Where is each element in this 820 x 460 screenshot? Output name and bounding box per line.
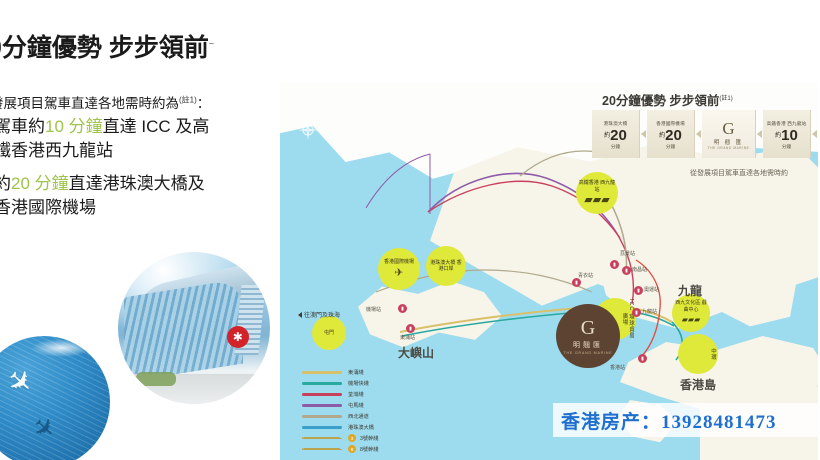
time-card-airport-num: 20 [665, 127, 682, 144]
legend-row-tuen-ma-line: 屯馬綫 [302, 400, 422, 410]
time-card-airport-value: 約20 [659, 128, 682, 144]
project-marker-cn: 明翹匯 [573, 340, 603, 350]
map-header-band: 20分鐘優勢 步步領前(註1) 港珠澳大橋 約20 分鐘 香港國際機場 約20 … [580, 86, 820, 182]
poi-airport[interactable]: 香港國際機場 ✈ [378, 248, 420, 290]
compass-rose-icon [298, 120, 318, 140]
station-label-tung-chung: 東涌站 [400, 334, 415, 341]
map-header-title: 20分鐘優勢 步步領前(註1) [602, 90, 733, 109]
bullet-2-highlight: 20 分鐘 [11, 174, 69, 193]
time-card-hzmb: 港珠澳大橋 約20 分鐘 [592, 110, 640, 158]
intro-sup: (註1) [179, 96, 197, 105]
time-card-hsr-value: 約10 [775, 128, 798, 144]
poi-hsr-station[interactable]: 高鐵香港 西九龍站 ▰▰▰ [576, 172, 618, 214]
legend-swatch-route-8 [302, 448, 342, 450]
intro-colon: ： [197, 96, 211, 111]
project-marker-mark: G [581, 318, 595, 338]
region-label-hkisland: 香港島 [680, 376, 716, 393]
legend-row-airport-express: 機場快綫 [302, 378, 422, 388]
time-card-hsr-unit: 分鐘 [782, 144, 791, 150]
legend-swatch-airport-express [302, 382, 342, 385]
legend-label-tuen-ma: 屯馬綫 [348, 402, 364, 409]
slide-root: 0分鐘優勢 步步領前~ 發展項目駕車直達各地需時約為(註1)： 駕車約10 分鐘… [0, 0, 820, 460]
map-header-title-sup: (註1) [719, 96, 732, 102]
intro-text: 發展項目駕車直達各地需時約為 [0, 96, 179, 111]
direction-note-text: 往澳門及珠海 [304, 313, 340, 319]
station-label-olympic: 奧運站 [644, 286, 659, 293]
station-label-hong-kong: 香港站 [610, 364, 625, 371]
legend-row-hzmb: 港珠澳大橋 [302, 422, 422, 432]
bullet-item-1: 駕車約10 分鐘直達 ICC 及高 鐵香港西九龍站 [0, 115, 294, 163]
legend-row-route-3: 3 3號幹綫 [302, 433, 422, 443]
poi-central-label: 中環 [680, 348, 716, 361]
legend-swatch-tung-chung [302, 371, 342, 374]
station-dot-airport[interactable]: ▮ [398, 304, 407, 313]
time-card-hzmb-unit: 分鐘 [611, 144, 620, 150]
intro-line: 發展項目駕車直達各地需時約為(註1)： [0, 92, 290, 112]
project-location-marker[interactable]: G 明翹匯 THE GRAND MARINE [556, 304, 620, 368]
legend-swatch-northwest [302, 415, 342, 418]
map-header-note: 從發展項目駕車直達各地需時約 [690, 168, 788, 178]
poi-west-kowloon-label: 西九文化區 戲曲中心 [674, 300, 708, 313]
poi-west-kowloon[interactable]: 西九文化區 戲曲中心 ▰▰▰ [672, 294, 710, 332]
station-dot-tsing-yi[interactable]: ▮ [572, 278, 581, 287]
bullet-1-post: 直達 ICC 及高 [103, 117, 210, 136]
time-card-airport: 香港國際機場 約20 分鐘 [647, 110, 695, 158]
project-logo-en: THE GRAND MARINE [708, 146, 750, 150]
terminal-glass-facade [124, 279, 243, 383]
station-dot-lai-king[interactable]: ▮ [610, 260, 619, 269]
legend-row-tsuen-wan-line: 荃灣綫 [302, 389, 422, 399]
poi-bridge-port-label: 港珠澳大橋 香港口岸 [428, 260, 464, 273]
poi-tuen-mun[interactable]: 屯門 [312, 316, 346, 350]
page-title: 0分鐘優勢 步步領前~ [0, 28, 288, 64]
bullet-1-line2: 鐵香港西九龍站 [0, 141, 113, 160]
legend-swatch-route-3 [302, 437, 342, 439]
arrow-left-icon-3 [757, 130, 762, 138]
poi-airport-label: 香港國際機場 [380, 259, 418, 265]
left-text-panel: 0分鐘優勢 步步領前~ 發展項目駕車直達各地需時約為(註1)： 駕車約10 分鐘… [0, 0, 292, 460]
station-label-lai-king: 荔景站 [620, 250, 635, 257]
station-label-nam-cheong: 南昌站 [632, 266, 647, 273]
sea-foam [31, 339, 92, 357]
time-card-hsr-num: 10 [781, 127, 798, 144]
watermark-text: 香港房产：13928481473 [553, 407, 777, 434]
theatre-icon: ▰▰▰ [682, 314, 700, 326]
arrow-left-icon-2 [696, 130, 701, 138]
map-header-title-text: 20分鐘優勢 步步領前 [602, 94, 719, 108]
bullet-item-2: 約20 分鐘直達港珠澳大橋及 香港國際機場 [0, 172, 294, 220]
arrow-left-icon-4 [812, 130, 817, 138]
poi-central[interactable]: 中環 [678, 334, 718, 374]
travel-time-cards: 港珠澳大橋 約20 分鐘 香港國際機場 約20 分鐘 G 明 翹 匯 THE G… [592, 110, 820, 158]
legend-badge-route-3: 3 [348, 434, 356, 442]
time-card-hzmb-num: 20 [610, 127, 627, 144]
bullet-1-highlight: 10 分鐘 [45, 117, 103, 136]
legend-label-tung-chung: 東涌綫 [348, 369, 364, 376]
legend-row-northwest-corridor: 西北通道 [302, 411, 422, 421]
terminal-greenery [136, 372, 176, 386]
legend-label-route-8: 8號幹綫 [360, 446, 378, 453]
direction-note-macau-zhuhai: 往澳門及珠海 [298, 310, 340, 319]
page-title-sup: ~ [209, 39, 214, 49]
arrow-left-icon-direction [298, 312, 302, 318]
station-label-kowloon: 九龍站 [642, 308, 657, 315]
project-logo-cn: 明 翹 匯 [714, 138, 743, 146]
legend-badge-route-8: 8 [348, 445, 356, 453]
poi-hsr-label: 高鐵香港 西九龍站 [578, 180, 616, 193]
poi-bridge-port[interactable]: 港珠澳大橋 香港口岸 [426, 246, 466, 286]
airplane-over-sea-photo: ✈ ✈ [0, 336, 110, 460]
watermark-banner: 香港房产：13928481473 [553, 403, 820, 437]
airport-terminal-photo: ✱ [118, 252, 270, 404]
legend-label-route-3: 3號幹綫 [360, 435, 378, 442]
legend-swatch-tuen-ma [302, 404, 342, 407]
arrow-left-icon-1 [641, 130, 646, 138]
station-dot-tung-chung[interactable]: ▮ [406, 324, 415, 333]
station-label-airport: 機場站 [366, 306, 381, 313]
region-label-kowloon: 九龍 [678, 282, 702, 299]
project-logo-mark: G [722, 120, 734, 137]
station-dot-nam-cheong[interactable]: ▮ [622, 266, 631, 275]
legend-label-airport-express: 機場快綫 [348, 380, 369, 387]
time-card-hzmb-value: 約20 [604, 128, 627, 144]
legend-label-tsuen-wan: 荃灣綫 [348, 391, 364, 398]
bullet-2-pre: 約 [0, 174, 11, 193]
project-marker-en: THE GRAND MARINE [564, 351, 613, 355]
map-legend: 東涌綫 機場快綫 荃灣綫 屯馬綫 西北通道 港珠澳大橋 [302, 367, 422, 455]
legend-label-northwest: 西北通道 [348, 413, 369, 420]
bullet-2-post: 直達港珠澳大橋及 [69, 174, 205, 193]
legend-label-hzmb: 港珠澳大橋 [348, 424, 374, 431]
legend-row-tung-chung-line: 東涌綫 [302, 367, 422, 377]
time-card-project-logo: G 明 翹 匯 THE GRAND MARINE [702, 110, 756, 158]
bullet-1-pre: 駕車約 [0, 117, 45, 136]
legend-swatch-hzmb [302, 426, 342, 429]
page-title-text: 0分鐘優勢 步步領前 [0, 34, 209, 62]
station-dot-kowloon[interactable]: ▮ [632, 308, 641, 317]
poi-tuen-mun-label: 屯門 [314, 330, 345, 336]
station-dot-hong-kong[interactable]: ▮ [638, 354, 647, 363]
station-dot-olympic[interactable]: ▮ [634, 286, 643, 295]
legend-swatch-tsuen-wan [302, 393, 342, 396]
time-card-hsr: 高鐵香港 西九龍站 約10 分鐘 [763, 110, 811, 158]
train-icon: ▰▰▰ [584, 194, 609, 206]
time-card-airport-unit: 分鐘 [666, 144, 675, 150]
bullet-2-line2: 香港國際機場 [0, 198, 96, 217]
station-label-tsing-yi: 青衣站 [578, 272, 593, 279]
airplane-icon: ✈ [394, 267, 403, 279]
region-label-lantau: 大嶼山 [398, 344, 434, 361]
legend-row-route-8: 8 8號幹綫 [302, 444, 422, 454]
